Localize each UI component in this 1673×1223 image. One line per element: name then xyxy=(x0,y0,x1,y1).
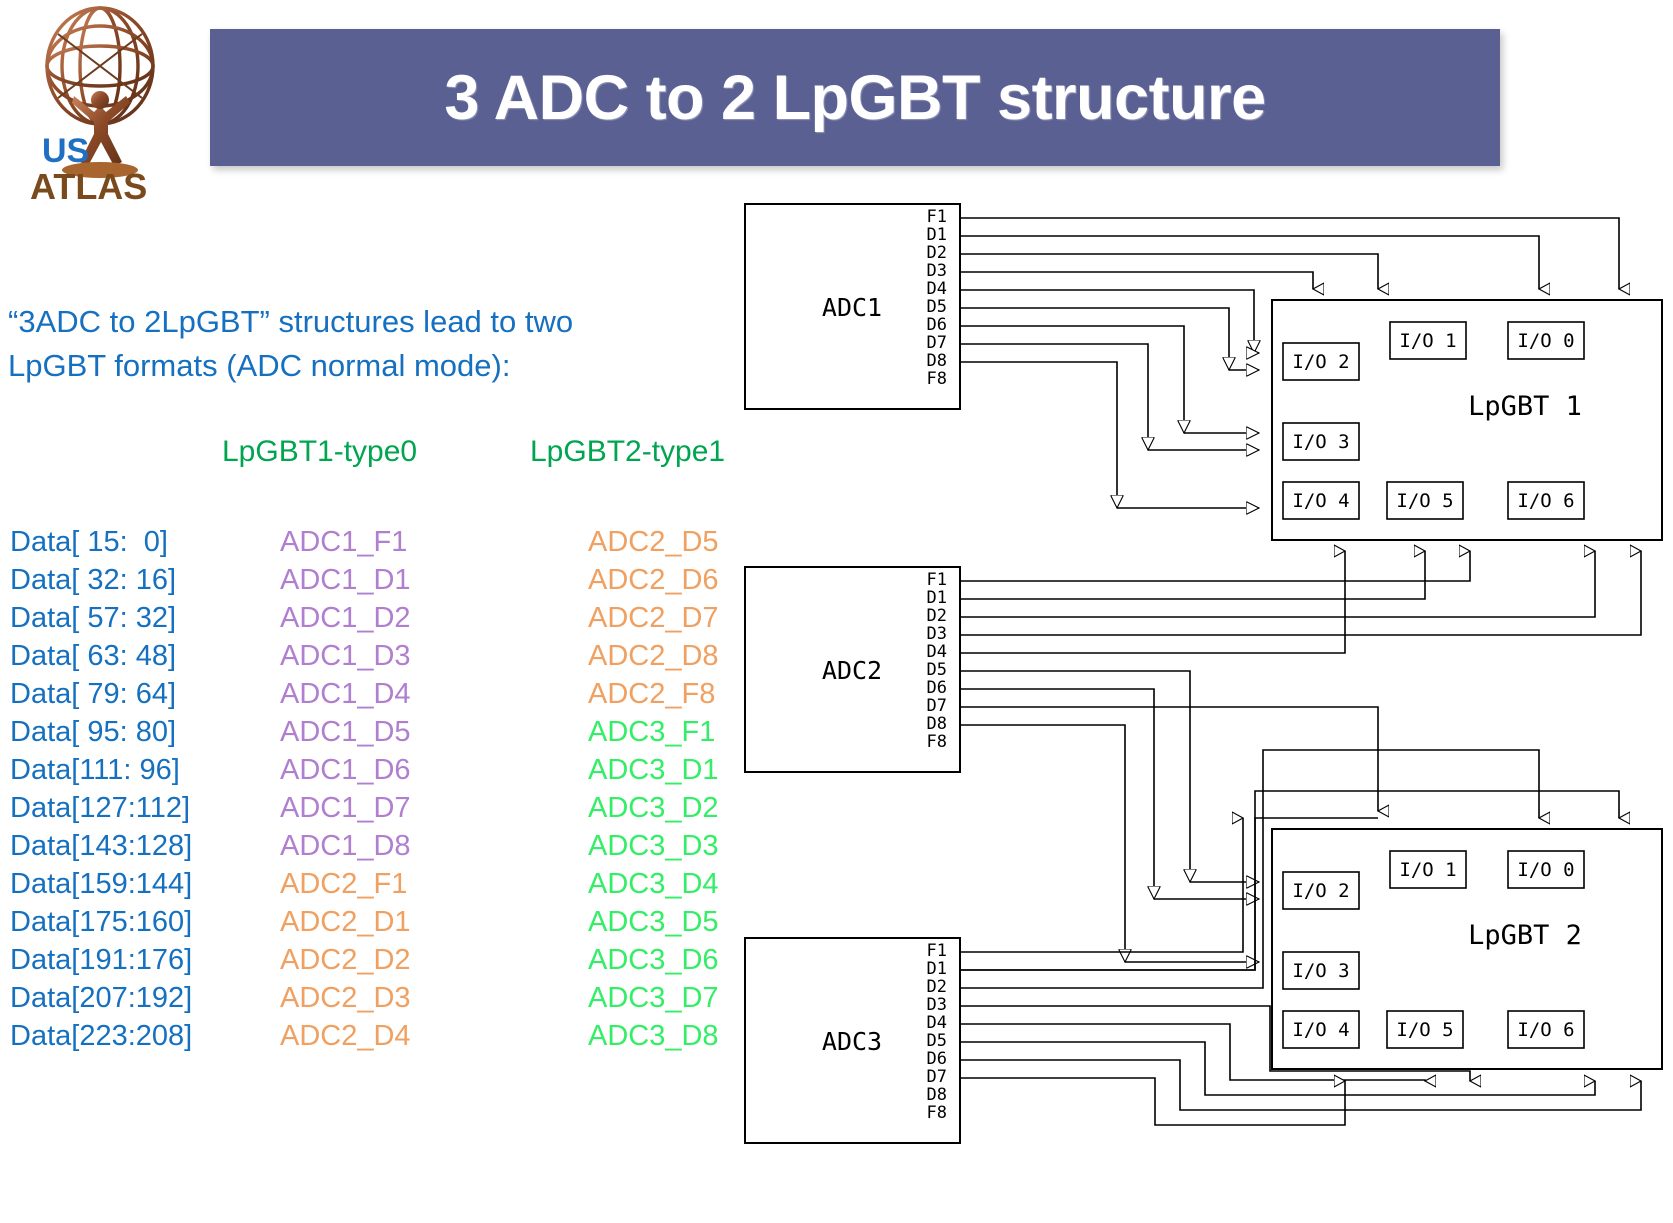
adc1-pin-d3: D3 xyxy=(927,261,947,281)
format-table-header: LpGBT1-type0 LpGBT2-type1 xyxy=(10,435,770,491)
adc2-pin-d8: D8 xyxy=(927,714,947,734)
lpgbt2-io-1: I/O 1 xyxy=(1390,851,1466,888)
adc1-pin-d8: D8 xyxy=(927,351,947,371)
table-row: Data[ 63: 48]ADC1_D3ADC2_D8 xyxy=(10,640,770,678)
cell-lpgbt2-type1-signal: ADC3_D6 xyxy=(588,944,719,977)
lpgbt2-io-2-label: I/O 2 xyxy=(1292,880,1349,902)
table-row: Data[207:192]ADC2_D3ADC3_D7 xyxy=(10,982,770,1020)
adc3-pin-d2: D2 xyxy=(927,977,947,997)
cell-bit-range: Data[127:112] xyxy=(10,792,190,825)
cell-bit-range: Data[175:160] xyxy=(10,906,192,939)
cell-lpgbt1-type0-signal: ADC1_D1 xyxy=(280,564,411,597)
lpgbt1-io-5-label: I/O 5 xyxy=(1396,490,1453,512)
adc3-pin-f1: F1 xyxy=(927,941,947,961)
adc3-pin-d8: D8 xyxy=(927,1085,947,1105)
table-row: Data[191:176]ADC2_D2ADC3_D6 xyxy=(10,944,770,982)
lpgbt1-io-3-label: I/O 3 xyxy=(1292,431,1349,453)
adc2-pin-d6: D6 xyxy=(927,678,947,698)
cell-bit-range: Data[111: 96] xyxy=(10,754,180,787)
adc1-pin-f1: F1 xyxy=(927,207,947,227)
block-adc2: ADC2 F1D1D2D3D4D5D6D7D8F8 xyxy=(745,567,960,772)
table-row: Data[ 79: 64]ADC1_D4ADC2_F8 xyxy=(10,678,770,716)
adc3-pin-d7: D7 xyxy=(927,1067,947,1087)
table-row: Data[159:144]ADC2_F1ADC3_D4 xyxy=(10,868,770,906)
block-lpgbt1: LpGBT 1 I/O 1 I/O 0 I/O 2 xyxy=(1272,300,1662,540)
slide-canvas: US ATLAS 3 ADC to 2 LpGBT structure “3AD… xyxy=(0,0,1673,1223)
adc2-pin-f1: F1 xyxy=(927,570,947,590)
lpgbt2-io-0: I/O 0 xyxy=(1508,851,1584,888)
table-row: Data[ 15: 0]ADC1_F1ADC2_D5 xyxy=(10,526,770,564)
lpgbt1-label: LpGBT 1 xyxy=(1468,391,1582,422)
lpgbt2-io-3: I/O 3 xyxy=(1283,952,1359,989)
cell-lpgbt2-type1-signal: ADC3_D5 xyxy=(588,906,719,939)
lpgbt1-io-4: I/O 4 xyxy=(1283,482,1359,519)
adc3-pin-d6: D6 xyxy=(927,1049,947,1069)
table-row: Data[223:208]ADC2_D4ADC3_D8 xyxy=(10,1020,770,1058)
adc1-pin-d1: D1 xyxy=(927,225,947,245)
adc3-label: ADC3 xyxy=(822,1027,882,1056)
lpgbt2-io-5-label: I/O 5 xyxy=(1396,1019,1453,1041)
adc2-pin-d7: D7 xyxy=(927,696,947,716)
cell-bit-range: Data[191:176] xyxy=(10,944,192,977)
table-row: Data[ 95: 80]ADC1_D5ADC3_F1 xyxy=(10,716,770,754)
cell-lpgbt2-type1-signal: ADC3_D4 xyxy=(588,868,719,901)
cell-lpgbt2-type1-signal: ADC3_D7 xyxy=(588,982,719,1015)
logo-us-text: US xyxy=(42,132,89,170)
slide-title-band: 3 ADC to 2 LpGBT structure xyxy=(210,29,1500,166)
lpgbt2-label: LpGBT 2 xyxy=(1468,920,1582,951)
block-adc3: ADC3 F1D1D2D3D4D5D6D7D8F8 xyxy=(745,938,960,1143)
table-row: Data[ 57: 32]ADC1_D2ADC2_D7 xyxy=(10,602,770,640)
lpgbt1-io-6-label: I/O 6 xyxy=(1517,490,1574,512)
adc3-pin-labels: F1D1D2D3D4D5D6D7D8F8 xyxy=(927,941,947,1123)
lpgbt1-io-2-label: I/O 2 xyxy=(1292,351,1349,373)
cell-lpgbt1-type0-signal: ADC1_D4 xyxy=(280,678,411,711)
lpgbt2-io-0-label: I/O 0 xyxy=(1517,859,1574,881)
cell-lpgbt1-type0-signal: ADC1_D7 xyxy=(280,792,411,825)
lpgbt2-io-1-label: I/O 1 xyxy=(1399,859,1456,881)
diagram-svg: ADC1 F1D1D2D3D4D5D6D7D8F8 ADC2 F1D1D2D3D… xyxy=(735,190,1673,1223)
cell-bit-range: Data[159:144] xyxy=(10,868,192,901)
table-row: Data[127:112]ADC1_D7ADC3_D2 xyxy=(10,792,770,830)
lpgbt1-io-6: I/O 6 xyxy=(1508,482,1584,519)
lpgbt2-io-6-label: I/O 6 xyxy=(1517,1019,1574,1041)
cell-lpgbt1-type0-signal: ADC1_D2 xyxy=(280,602,411,635)
lpgbt1-io-2: I/O 2 xyxy=(1283,343,1359,380)
format-table-body: Data[ 15: 0]ADC1_F1ADC2_D5Data[ 32: 16]A… xyxy=(10,526,770,1058)
lpgbt2-io-6: I/O 6 xyxy=(1508,1011,1584,1048)
cell-lpgbt1-type0-signal: ADC1_F1 xyxy=(280,526,407,559)
cell-lpgbt2-type1-signal: ADC2_D7 xyxy=(588,602,719,635)
adc3-pin-d4: D4 xyxy=(927,1013,947,1033)
lpgbt2-io-4-label: I/O 4 xyxy=(1292,1019,1349,1041)
lpgbt-format-table: LpGBT1-type0 LpGBT2-type1 Data[ 15: 0]AD… xyxy=(10,435,770,1058)
cell-lpgbt1-type0-signal: ADC2_F1 xyxy=(280,868,407,901)
cell-bit-range: Data[223:208] xyxy=(10,1020,192,1053)
cell-lpgbt1-type0-signal: ADC1_D3 xyxy=(280,640,411,673)
adc2-pin-d4: D4 xyxy=(927,642,947,662)
cell-lpgbt2-type1-signal: ADC2_D5 xyxy=(588,526,719,559)
cell-bit-range: Data[ 63: 48] xyxy=(10,640,176,673)
logo-atlas-text: ATLAS xyxy=(30,166,147,204)
cell-bit-range: Data[ 95: 80] xyxy=(10,716,176,749)
cell-lpgbt2-type1-signal: ADC3_D1 xyxy=(588,754,719,787)
block-adc1: ADC1 F1D1D2D3D4D5D6D7D8F8 xyxy=(745,204,960,409)
wires-adc1-stubs xyxy=(1117,353,1259,508)
wires-adc2-stubs xyxy=(1125,882,1259,962)
cell-lpgbt2-type1-signal: ADC2_F8 xyxy=(588,678,715,711)
adc3-pin-d3: D3 xyxy=(927,995,947,1015)
cell-lpgbt2-type1-signal: ADC3_D3 xyxy=(588,830,719,863)
page-title: 3 ADC to 2 LpGBT structure xyxy=(444,62,1265,134)
cell-bit-range: Data[ 79: 64] xyxy=(10,678,176,711)
cell-lpgbt1-type0-signal: ADC2_D2 xyxy=(280,944,411,977)
atlas-logo-icon: US ATLAS xyxy=(18,4,183,204)
adc2-pin-labels: F1D1D2D3D4D5D6D7D8F8 xyxy=(927,570,947,752)
adc1-label: ADC1 xyxy=(822,293,882,322)
adc2-label: ADC2 xyxy=(822,656,882,685)
lpgbt1-io-4-label: I/O 4 xyxy=(1292,490,1349,512)
cell-lpgbt1-type0-signal: ADC2_D4 xyxy=(280,1020,411,1053)
adc2-pin-d3: D3 xyxy=(927,624,947,644)
cell-lpgbt1-type0-signal: ADC1_D6 xyxy=(280,754,411,787)
lpgbt1-io-1-label: I/O 1 xyxy=(1399,330,1456,352)
adc-lpgbt-block-diagram: ADC1 F1D1D2D3D4D5D6D7D8F8 ADC2 F1D1D2D3D… xyxy=(735,190,1673,1223)
adc1-pin-f8: F8 xyxy=(927,369,947,389)
adc1-pin-labels: F1D1D2D3D4D5D6D7D8F8 xyxy=(927,207,947,389)
table-row: Data[175:160]ADC2_D1ADC3_D5 xyxy=(10,906,770,944)
adc3-pin-f8: F8 xyxy=(927,1103,947,1123)
adc2-pin-f8: F8 xyxy=(927,732,947,752)
block-lpgbt2: LpGBT 2 I/O 1 I/O 0 I/O 2 I/O 3 xyxy=(1272,829,1662,1069)
column-header-type0: LpGBT1-type0 xyxy=(222,435,417,469)
adc1-pin-d6: D6 xyxy=(927,315,947,335)
cell-bit-range: Data[ 57: 32] xyxy=(10,602,176,635)
cell-lpgbt2-type1-signal: ADC3_F1 xyxy=(588,716,715,749)
cell-lpgbt2-type1-signal: ADC2_D6 xyxy=(588,564,719,597)
adc3-pin-d5: D5 xyxy=(927,1031,947,1051)
cell-bit-range: Data[ 15: 0] xyxy=(10,526,168,559)
adc1-pin-d5: D5 xyxy=(927,297,947,317)
lpgbt2-io-3-label: I/O 3 xyxy=(1292,960,1349,982)
wires-adc2-to-lpgbt1 xyxy=(960,551,1641,653)
lpgbt1-io-1: I/O 1 xyxy=(1390,322,1466,359)
cell-lpgbt2-type1-signal: ADC3_D2 xyxy=(588,792,719,825)
lpgbt2-io-5: I/O 5 xyxy=(1387,1011,1463,1048)
column-header-type1: LpGBT2-type1 xyxy=(530,435,725,469)
lpgbt2-io-4: I/O 4 xyxy=(1283,1011,1359,1048)
adc2-pin-d5: D5 xyxy=(927,660,947,680)
adc1-pin-d2: D2 xyxy=(927,243,947,263)
us-atlas-logo: US ATLAS xyxy=(18,4,183,204)
lpgbt2-io-2: I/O 2 xyxy=(1283,872,1359,909)
intro-paragraph: “3ADC to 2LpGBT” structures lead to two … xyxy=(8,300,718,388)
table-row: Data[111: 96]ADC1_D6ADC3_D1 xyxy=(10,754,770,792)
cell-lpgbt1-type0-signal: ADC1_D5 xyxy=(280,716,411,749)
adc1-pin-d4: D4 xyxy=(927,279,947,299)
cell-bit-range: Data[143:128] xyxy=(10,830,192,863)
table-row: Data[ 32: 16]ADC1_D1ADC2_D6 xyxy=(10,564,770,602)
adc2-pin-d2: D2 xyxy=(927,606,947,626)
lpgbt1-io-0: I/O 0 xyxy=(1508,322,1584,359)
lpgbt1-io-0-label: I/O 0 xyxy=(1517,330,1574,352)
cell-bit-range: Data[ 32: 16] xyxy=(10,564,176,597)
cell-lpgbt1-type0-signal: ADC1_D8 xyxy=(280,830,411,863)
adc3-pin-d1: D1 xyxy=(927,959,947,979)
table-row: Data[143:128]ADC1_D8ADC3_D3 xyxy=(10,830,770,868)
cell-bit-range: Data[207:192] xyxy=(10,982,192,1015)
intro-line-2: LpGBT formats (ADC normal mode): xyxy=(8,344,718,388)
lpgbt1-io-5: I/O 5 xyxy=(1387,482,1463,519)
adc2-pin-d1: D1 xyxy=(927,588,947,608)
cell-lpgbt1-type0-signal: ADC2_D1 xyxy=(280,906,411,939)
cell-lpgbt1-type0-signal: ADC2_D3 xyxy=(280,982,411,1015)
lpgbt1-io-3: I/O 3 xyxy=(1283,423,1359,460)
cell-lpgbt2-type1-signal: ADC2_D8 xyxy=(588,640,719,673)
adc1-pin-d7: D7 xyxy=(927,333,947,353)
intro-line-1: “3ADC to 2LpGBT” structures lead to two xyxy=(8,300,718,344)
cell-lpgbt2-type1-signal: ADC3_D8 xyxy=(588,1020,719,1053)
